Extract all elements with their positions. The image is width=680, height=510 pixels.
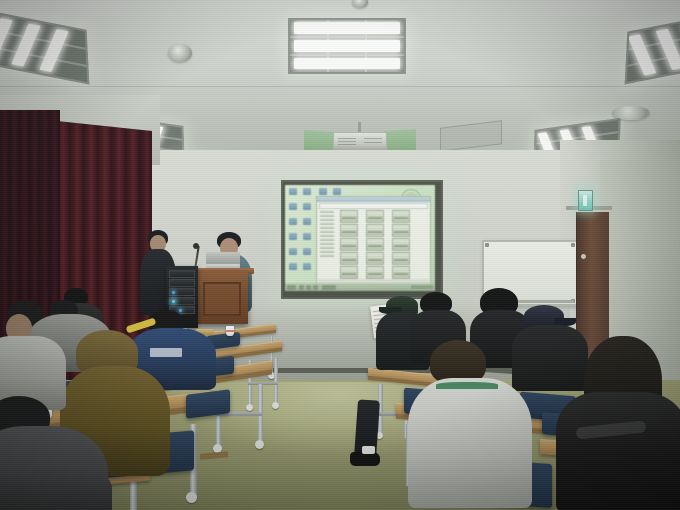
- thumbnail-item[interactable]: [340, 224, 358, 237]
- table-caster: [186, 492, 197, 503]
- window-titlebar[interactable]: [317, 197, 430, 202]
- file-explorer-window[interactable]: [316, 196, 431, 286]
- desktop-icon: [303, 218, 311, 225]
- desktop-icon: [303, 203, 311, 210]
- emergency-exit-sign: [578, 190, 593, 211]
- thumbnail-item[interactable]: [340, 238, 358, 251]
- status-led-icon: [172, 300, 175, 303]
- recessed-downlight-icon: [168, 44, 192, 62]
- sweater-green-collar: [436, 382, 498, 389]
- projected-desktop: [285, 185, 435, 291]
- microphone-head-icon: [193, 243, 199, 249]
- thumbnail-item[interactable]: [340, 266, 358, 279]
- desktop-icon: [303, 248, 311, 255]
- ceiling-speaker-icon: [612, 106, 650, 120]
- thumbnail-grid[interactable]: [338, 209, 428, 277]
- thumbnail-item[interactable]: [340, 210, 358, 223]
- thumbnail-item[interactable]: [366, 210, 384, 223]
- desktop-icon: [333, 188, 341, 195]
- thumbnail-item[interactable]: [392, 210, 410, 223]
- desktop-icon: [289, 188, 297, 195]
- thumbnail-item[interactable]: [366, 252, 384, 265]
- thumbnail-item[interactable]: [366, 238, 384, 251]
- desktop-icon: [289, 263, 297, 270]
- whiteboard-clip-icon: [485, 243, 489, 247]
- taskbar[interactable]: [285, 283, 435, 291]
- jacket-logo-text: [150, 348, 182, 357]
- ceiling-seam: [0, 86, 680, 87]
- paper-cup-podium-row: [226, 326, 234, 336]
- thumbnail-item[interactable]: [366, 266, 384, 279]
- table-caster: [255, 440, 264, 449]
- status-led-icon: [172, 291, 175, 294]
- fluorescent-troffer-center-front: [288, 18, 406, 74]
- whiteboard-clip-icon: [571, 243, 575, 247]
- desktop-icon: [289, 218, 297, 225]
- thumbnail-item[interactable]: [392, 252, 410, 265]
- quick-launch-icon[interactable]: [306, 285, 311, 290]
- attendee-foreground-silhouette: [0, 462, 112, 510]
- table-caster: [272, 402, 279, 409]
- desktop-icon: [303, 263, 311, 270]
- start-button-icon[interactable]: [287, 285, 296, 290]
- status-led-icon: [179, 309, 182, 312]
- attendee-cap: [524, 305, 564, 327]
- desktop-icon: [303, 188, 311, 195]
- door-knob-icon[interactable]: [581, 254, 586, 259]
- wooden-podium: [196, 272, 248, 324]
- system-tray-clock[interactable]: [411, 285, 433, 289]
- cup-ring: [226, 330, 234, 332]
- desktop-icon: [303, 233, 311, 240]
- quick-launch-icon[interactable]: [299, 285, 304, 290]
- podium-front-panel: [203, 282, 241, 316]
- thumbnail-item[interactable]: [392, 224, 410, 237]
- desktop-icon: [289, 233, 297, 240]
- projection-screen: [281, 180, 443, 299]
- desktop-icon: [289, 203, 297, 210]
- quick-launch-icon[interactable]: [313, 285, 318, 290]
- exit-figure-icon: [583, 195, 587, 206]
- table-caster: [246, 404, 253, 411]
- desktop-icon: [319, 188, 327, 195]
- attendee-sweater-torso: [408, 378, 532, 508]
- attendee-shoe: [350, 452, 380, 466]
- desktop-icon: [289, 248, 297, 255]
- rack-unit[interactable]: [169, 279, 195, 287]
- thumbnail-item[interactable]: [392, 238, 410, 251]
- table-leg: [274, 358, 278, 404]
- thumbnail-item[interactable]: [366, 224, 384, 237]
- navigation-pane[interactable]: [318, 209, 336, 277]
- taskbar-window-button[interactable]: [322, 285, 336, 290]
- rack-unit[interactable]: [169, 270, 195, 278]
- attendee-torso: [512, 325, 588, 391]
- attendee-sock: [362, 446, 375, 454]
- lecture-hall-photo: [0, 0, 680, 510]
- thumbnail-item[interactable]: [392, 266, 410, 279]
- table-crossbar: [248, 382, 278, 385]
- attendee-puffer-torso: [556, 392, 680, 510]
- thumbnail-item[interactable]: [340, 252, 358, 265]
